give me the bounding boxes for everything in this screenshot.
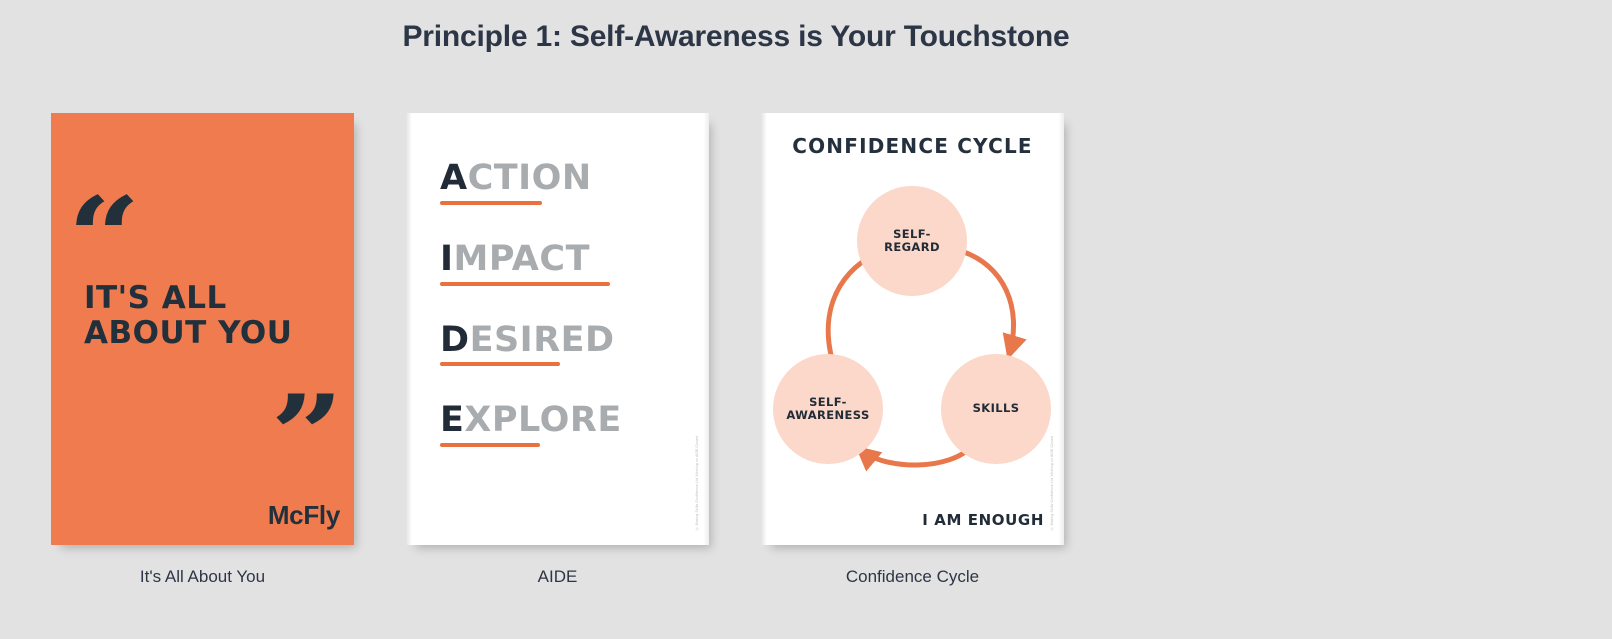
arrow-skills-to-self-awareness [859, 445, 973, 465]
cycle-node-line-2: Awareness [786, 409, 869, 422]
card-its-all-about-you[interactable]: “ It's All About You ” McFly [51, 113, 354, 545]
aide-rest-letters: MPACT [454, 239, 590, 279]
aide-item-impact: IMPACT [440, 241, 680, 286]
cycle-node-self-regard: Self- Regard [857, 186, 967, 296]
aide-item-explore: EXPLORE [440, 402, 680, 447]
quote-text: It's All About You [84, 281, 334, 352]
aide-underline [440, 201, 542, 205]
aide-item-action: ACTION [440, 160, 680, 205]
quote-line-1: It's All [84, 281, 334, 316]
aide-rest-letters: XPLORE [464, 400, 621, 440]
confidence-cycle-diagram: Self- Regard Self- Awareness Skills [761, 173, 1064, 503]
card-caption-aide: AIDE [406, 567, 709, 587]
aide-underline [440, 362, 560, 366]
aide-word-impact: IMPACT [440, 241, 680, 279]
aide-lead-letter: D [440, 320, 470, 360]
card-slot-aide: ACTION IMPACT DESIRED [406, 113, 761, 587]
card-caption-its-all-about-you: It's All About You [51, 567, 354, 587]
aide-list: ACTION IMPACT DESIRED [440, 160, 680, 447]
side-credit-text: © Making Skills Confidence Ltd Working o… [1050, 436, 1055, 531]
cycle-node-line-1: Self- [786, 396, 869, 409]
aide-lead-letter: I [440, 239, 454, 279]
brand-label: McFly [268, 500, 340, 531]
card-row: “ It's All About You ” McFly It's All Ab… [51, 113, 1116, 587]
cycle-node-line-1: Self- [884, 228, 940, 241]
arrow-self-regard-to-skills [961, 251, 1014, 355]
page-title: Principle 1: Self-Awareness is Your Touc… [0, 20, 1472, 54]
aide-lead-letter: E [440, 400, 464, 440]
cycle-node-line-2: Regard [884, 241, 940, 254]
close-quote-icon: ” [270, 381, 343, 489]
card-caption-confidence-cycle: Confidence Cycle [761, 567, 1064, 587]
open-quote-icon: “ [67, 183, 140, 291]
aide-rest-letters: ESIRED [470, 320, 615, 360]
confidence-cycle-title: Confidence Cycle [761, 134, 1064, 158]
card-slot-its-all-about-you: “ It's All About You ” McFly It's All Ab… [51, 113, 406, 587]
side-credit-text: © Making Skills Confidence Ltd Working o… [695, 436, 700, 531]
aide-word-desired: DESIRED [440, 322, 680, 360]
card-confidence-cycle[interactable]: Confidence Cycle [761, 113, 1064, 545]
aide-underline [440, 443, 540, 447]
card-aide[interactable]: ACTION IMPACT DESIRED [406, 113, 709, 545]
confidence-cycle-footer: I Am Enough [922, 511, 1044, 529]
aide-underline [440, 282, 610, 286]
cycle-node-self-awareness: Self- Awareness [773, 354, 883, 464]
aide-rest-letters: CTION [468, 158, 592, 198]
aide-item-desired: DESIRED [440, 322, 680, 367]
card-slot-confidence-cycle: Confidence Cycle [761, 113, 1116, 587]
aide-lead-letter: A [440, 158, 468, 198]
cycle-node-skills: Skills [941, 354, 1051, 464]
cycle-node-line-1: Skills [973, 402, 1020, 415]
quote-line-2: About You [84, 316, 334, 351]
aide-word-explore: EXPLORE [440, 402, 680, 440]
aide-word-action: ACTION [440, 160, 680, 198]
